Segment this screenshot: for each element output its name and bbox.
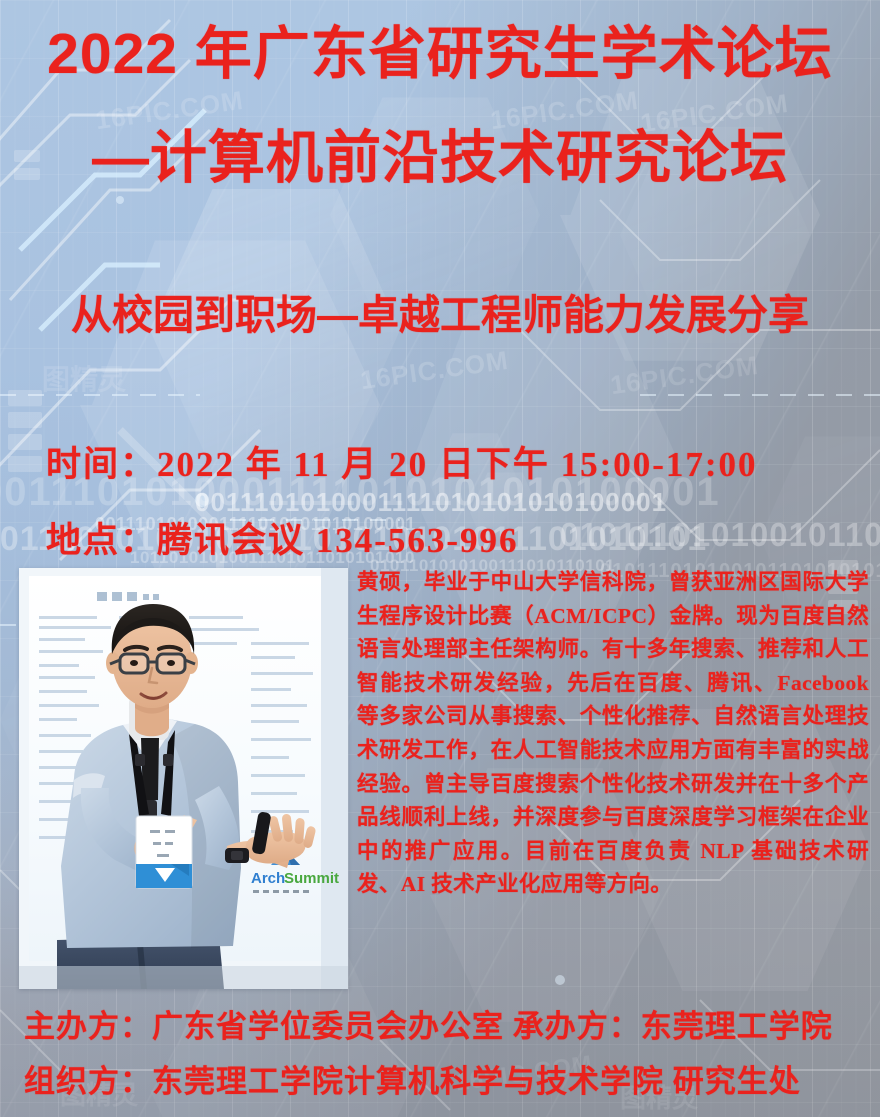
poster-content: 2022 年广东省研究生学术论坛 —计算机前沿技术研究论坛 从校园到职场—卓越工… xyxy=(0,0,880,1117)
poster-root: 0011101010001111010101010100001 00111010… xyxy=(0,0,880,1117)
event-location: 地点：腾讯会议 134-563-996 xyxy=(46,523,519,558)
footer-host-line: 主办方：广东省学位委员会办公室 承办方：东莞理工学院 xyxy=(24,1011,833,1042)
svg-text:Arch: Arch xyxy=(251,870,285,887)
speaker-bio: 黄硕，毕业于中山大学信科院，曾获亚洲区国际大学生程序设计比赛（ACM/ICPC）… xyxy=(357,566,869,902)
poster-subtitle: 从校园到职场—卓越工程师能力发展分享 xyxy=(0,295,880,336)
svg-text:Summit: Summit xyxy=(284,870,339,887)
speaker-photo: Arch Summit xyxy=(19,568,348,989)
speaker-photo-illustration: Arch Summit xyxy=(19,568,348,989)
conference-badge xyxy=(136,816,192,888)
poster-title-line-1: 2022 年广东省研究生学术论坛 xyxy=(0,26,880,83)
poster-title-line-2: —计算机前沿技术研究论坛 xyxy=(0,130,880,187)
footer-organizer-line: 组织方：东莞理工学院计算机科学与技术学院 研究生处 xyxy=(24,1066,801,1097)
event-time: 时间：2022 年 11 月 20 日下午 15:00-17:00 xyxy=(46,447,758,482)
